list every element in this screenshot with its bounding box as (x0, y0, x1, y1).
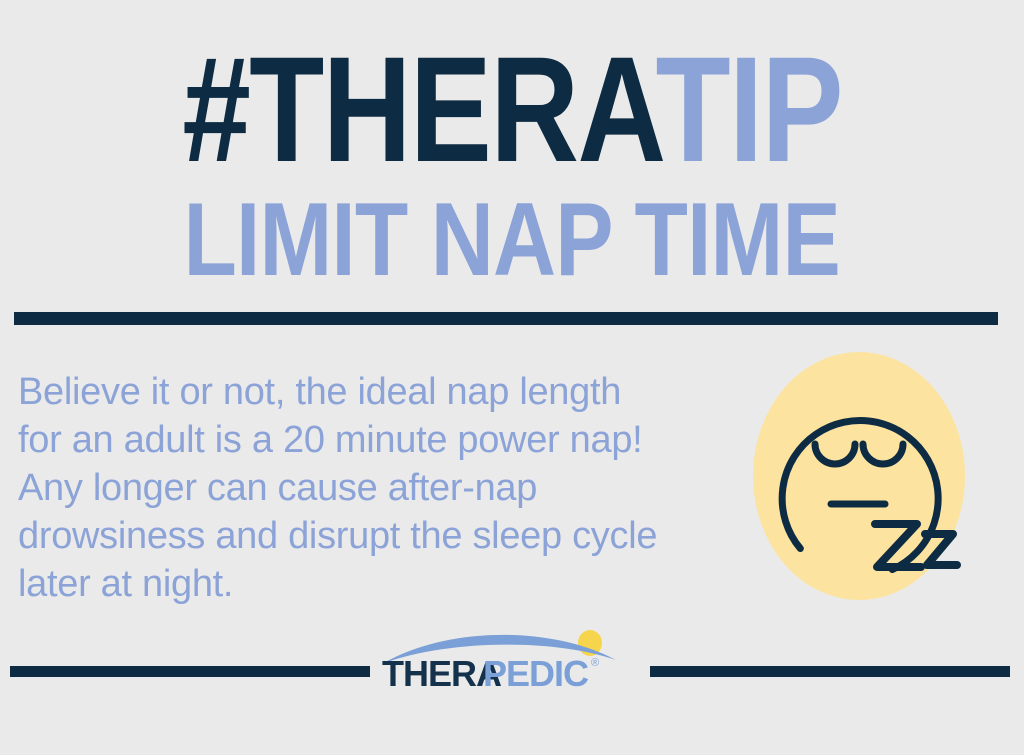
body-line: for an adult is a 20 minute power nap! (18, 416, 734, 464)
page-title: #THERATIP (0, 34, 1024, 184)
headline-brand-tag: #THERA (182, 25, 655, 193)
body-line: Believe it or not, the ideal nap length (18, 368, 734, 416)
headline-accent: TIP (655, 25, 841, 193)
therapedic-logo: THERA PEDIC ® (378, 618, 646, 690)
body-line: Any longer can cause after-nap (18, 464, 734, 512)
left-eye-closed (815, 444, 855, 464)
divider-bottom-left (10, 666, 370, 677)
headline-inner: #THERATIP (182, 34, 842, 184)
body-line: drowsiness and disrupt the sleep cycle (18, 512, 734, 560)
page-subtitle: LIMIT NAP TIME (0, 188, 1024, 292)
right-eye-closed (863, 444, 903, 464)
divider-bottom-right (650, 666, 1010, 677)
logo-word-blue: PEDIC (483, 653, 589, 690)
logo-artwork: THERA PEDIC ® (378, 618, 646, 690)
body-paragraph: Believe it or not, the ideal nap length … (18, 368, 734, 608)
face-outline (774, 410, 949, 574)
divider-top (14, 312, 998, 325)
infographic-poster: #THERATIP LIMIT NAP TIME Believe it or n… (0, 0, 1024, 755)
body-line: later at night. (18, 560, 734, 608)
sleeping-face-illustration (753, 352, 965, 600)
logo-trademark-symbol: ® (591, 657, 599, 669)
subtitle-text: LIMIT NAP TIME (184, 188, 840, 292)
zzz-large-letter (875, 524, 921, 567)
sleeping-face-icon (753, 352, 965, 600)
